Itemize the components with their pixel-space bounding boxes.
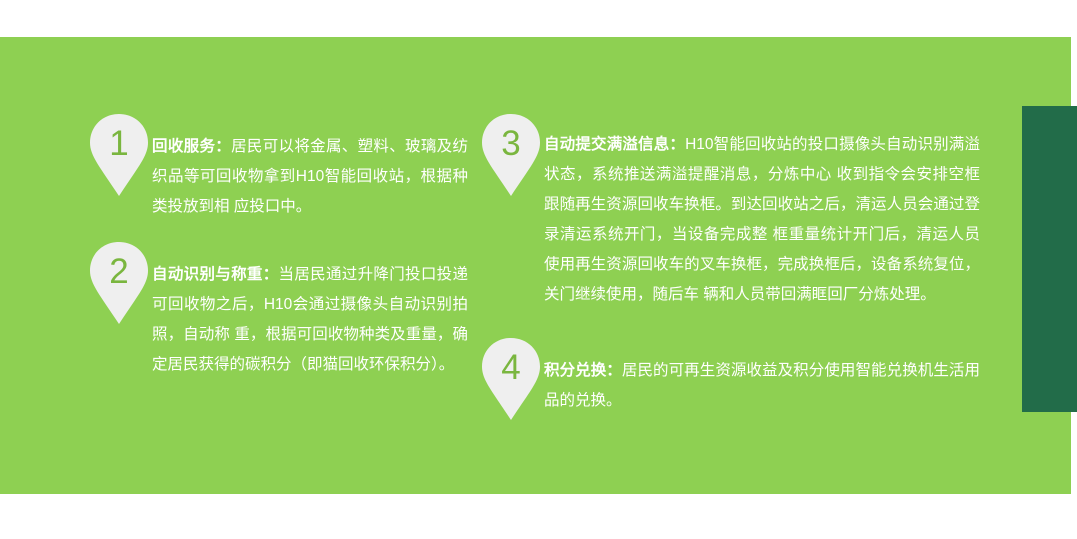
item-text: 回收服务：居民可以将金属、塑料、玻璃及纺织品等可回收物拿到H10智能回收站，根据… bbox=[152, 112, 468, 222]
item-row: 3 自动提交满溢信息：H10智能回收站的投口摄像头自动识别满溢状态，系统推送满溢… bbox=[480, 112, 980, 310]
list-item: 3 自动提交满溢信息：H10智能回收站的投口摄像头自动识别满溢状态，系统推送满溢… bbox=[480, 112, 980, 310]
item-row: 1 回收服务：居民可以将金属、塑料、玻璃及纺织品等可回收物拿到H10智能回收站，… bbox=[88, 112, 468, 222]
map-pin-icon: 3 bbox=[480, 112, 542, 198]
item-lead: 回收服务： bbox=[152, 138, 231, 155]
pin-wrapper: 3 bbox=[480, 112, 544, 200]
item-row: 2 自动识别与称重：当居民通过升降门投口投递可回收物之后，H10会通过摄像头自动… bbox=[88, 240, 468, 380]
pin-wrapper: 4 bbox=[480, 336, 544, 424]
left-column: 1 回收服务：居民可以将金属、塑料、玻璃及纺织品等可回收物拿到H10智能回收站，… bbox=[88, 112, 468, 398]
item-lead: 积分兑换： bbox=[544, 362, 622, 379]
map-pin-icon: 4 bbox=[480, 336, 542, 422]
dark-green-accent-block bbox=[1022, 106, 1077, 412]
pin-number: 3 bbox=[480, 124, 542, 164]
item-lead: 自动识别与称重： bbox=[152, 266, 279, 283]
list-item: 4 积分兑换：居民的可再生资源收益及积分使用智能兑换机生活用品的兑换。 bbox=[480, 336, 980, 424]
pin-number: 2 bbox=[88, 252, 150, 292]
right-column: 3 自动提交满溢信息：H10智能回收站的投口摄像头自动识别满溢状态，系统推送满溢… bbox=[480, 112, 980, 442]
item-lead: 自动提交满溢信息： bbox=[544, 136, 685, 153]
page-root: 1 回收服务：居民可以将金属、塑料、玻璃及纺织品等可回收物拿到H10智能回收站，… bbox=[0, 0, 1077, 539]
map-pin-icon: 2 bbox=[88, 240, 150, 326]
map-pin-icon: 1 bbox=[88, 112, 150, 198]
pin-number: 1 bbox=[88, 124, 150, 164]
pin-wrapper: 2 bbox=[88, 240, 152, 328]
item-row: 4 积分兑换：居民的可再生资源收益及积分使用智能兑换机生活用品的兑换。 bbox=[480, 336, 980, 424]
list-item: 2 自动识别与称重：当居民通过升降门投口投递可回收物之后，H10会通过摄像头自动… bbox=[88, 240, 468, 380]
item-text: 自动提交满溢信息：H10智能回收站的投口摄像头自动识别满溢状态，系统推送满溢提醒… bbox=[544, 112, 980, 310]
pin-wrapper: 1 bbox=[88, 112, 152, 200]
item-body: H10智能回收站的投口摄像头自动识别满溢状态，系统推送满溢提醒消息，分炼中心 收… bbox=[544, 136, 980, 303]
list-item: 1 回收服务：居民可以将金属、塑料、玻璃及纺织品等可回收物拿到H10智能回收站，… bbox=[88, 112, 468, 222]
item-text: 积分兑换：居民的可再生资源收益及积分使用智能兑换机生活用品的兑换。 bbox=[544, 336, 980, 416]
item-text: 自动识别与称重：当居民通过升降门投口投递可回收物之后，H10会通过摄像头自动识别… bbox=[152, 240, 468, 380]
pin-number: 4 bbox=[480, 348, 542, 388]
